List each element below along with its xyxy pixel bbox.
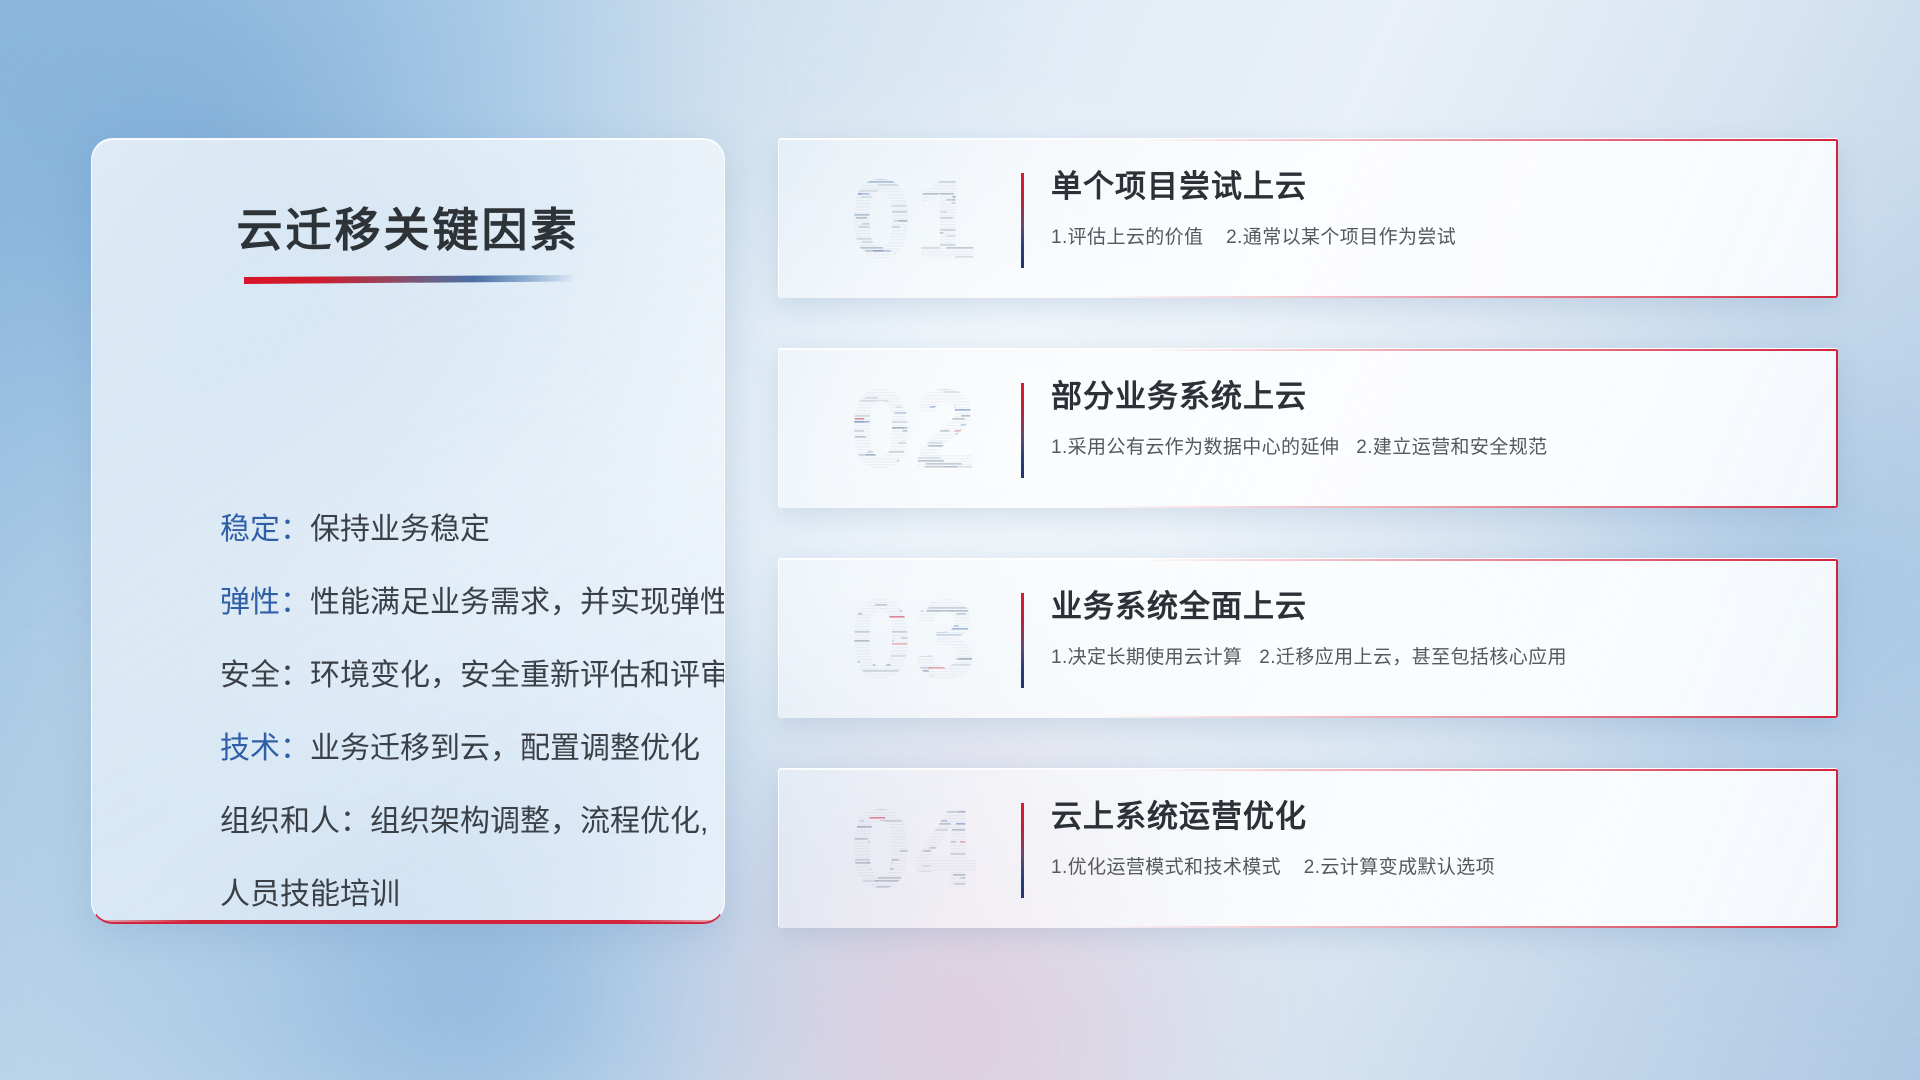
card-accent-top	[779, 559, 1838, 561]
card-subtitle: 1.采用公有云作为数据中心的延伸 2.建立运营和安全规范	[1051, 432, 1812, 459]
card-accent-bottom	[779, 296, 1838, 298]
key-factor-text: 人员技能培训	[220, 878, 400, 911]
card-title: 云上系统运营优化	[1051, 799, 1812, 835]
key-factor-label: 弹性：	[220, 586, 310, 619]
key-factor-text: 环境变化，安全重新评估和评审	[310, 659, 725, 692]
stage-card[interactable]: 04云上系统运营优化1.优化运营模式和技术模式 2.云计算变成默认选项	[778, 768, 1838, 928]
stage-card[interactable]: 01单个项目尝试上云1.评估上云的价值 2.通常以某个项目作为尝试	[778, 138, 1838, 298]
slide-stage: 云迁移关键因素 稳定：保持业务稳定弹性：性能满足业务需求，并实现弹性安全：环境变…	[0, 0, 1920, 1080]
stage-card[interactable]: 03业务系统全面上云1.决定长期使用云计算 2.迁移应用上云，甚至包括核心应用	[778, 558, 1838, 718]
card-accent-top	[779, 769, 1838, 771]
card-divider-bar	[1021, 383, 1024, 478]
key-factors-panel: 云迁移关键因素 稳定：保持业务稳定弹性：性能满足业务需求，并实现弹性安全：环境变…	[91, 138, 725, 924]
card-accent-right	[1836, 559, 1838, 718]
stage-cards-list: 01单个项目尝试上云1.评估上云的价值 2.通常以某个项目作为尝试02部分业务系…	[778, 138, 1838, 928]
card-title: 单个项目尝试上云	[1051, 169, 1812, 205]
card-accent-right	[1836, 349, 1838, 508]
key-factor-text: 保持业务稳定	[310, 513, 490, 546]
card-step-number: 02	[819, 368, 1009, 490]
key-factor-item: 稳定：保持业务稳定	[220, 515, 682, 545]
card-subtitle: 1.评估上云的价值 2.通常以某个项目作为尝试	[1051, 222, 1812, 249]
card-subtitle: 1.决定长期使用云计算 2.迁移应用上云，甚至包括核心应用	[1051, 642, 1812, 669]
card-accent-right	[1836, 139, 1838, 298]
card-step-number: 01	[819, 158, 1009, 280]
card-body: 云上系统运营优化1.优化运营模式和技术模式 2.云计算变成默认选项	[1051, 799, 1812, 879]
title-underline-gradient	[244, 275, 574, 284]
card-step-number: 04	[819, 788, 1009, 910]
card-title: 部分业务系统上云	[1051, 379, 1812, 415]
key-factor-text: 性能满足业务需求，并实现弹性	[310, 586, 725, 619]
card-accent-bottom	[779, 716, 1838, 718]
card-step-number: 03	[819, 578, 1009, 700]
key-factor-item: 弹性：性能满足业务需求，并实现弹性	[220, 588, 682, 618]
card-divider-bar	[1021, 803, 1024, 898]
key-factor-item: 安全：环境变化，安全重新评估和评审	[220, 661, 682, 691]
card-body: 业务系统全面上云1.决定长期使用云计算 2.迁移应用上云，甚至包括核心应用	[1051, 589, 1812, 669]
key-factor-item: 组织和人：组织架构调整，流程优化,	[220, 807, 682, 837]
key-factor-label: 技术：	[220, 732, 310, 765]
card-accent-bottom	[779, 506, 1838, 508]
card-body: 部分业务系统上云1.采用公有云作为数据中心的延伸 2.建立运营和安全规范	[1051, 379, 1812, 459]
key-factor-text: 业务迁移到云，配置调整优化	[310, 732, 700, 765]
key-factors-list: 稳定：保持业务稳定弹性：性能满足业务需求，并实现弹性安全：环境变化，安全重新评估…	[220, 515, 682, 910]
card-divider-bar	[1021, 593, 1024, 688]
panel-title: 云迁移关键因素	[92, 194, 724, 260]
card-body: 单个项目尝试上云1.评估上云的价值 2.通常以某个项目作为尝试	[1051, 169, 1812, 249]
card-title: 业务系统全面上云	[1051, 589, 1812, 625]
key-factor-label: 安全：	[220, 659, 310, 692]
card-accent-right	[1836, 769, 1838, 928]
key-factor-label: 组织和人：	[220, 805, 370, 838]
key-factor-item: 技术：业务迁移到云，配置调整优化	[220, 734, 682, 764]
card-subtitle: 1.优化运营模式和技术模式 2.云计算变成默认选项	[1051, 852, 1812, 879]
card-divider-bar	[1021, 173, 1024, 268]
card-accent-top	[779, 139, 1838, 141]
card-accent-top	[779, 349, 1838, 351]
key-factor-label: 稳定：	[220, 513, 310, 546]
stage-card[interactable]: 02部分业务系统上云1.采用公有云作为数据中心的延伸 2.建立运营和安全规范	[778, 348, 1838, 508]
key-factor-item: 人员技能培训	[220, 880, 682, 910]
key-factor-text: 组织架构调整，流程优化,	[370, 805, 708, 838]
card-accent-bottom	[779, 926, 1838, 928]
